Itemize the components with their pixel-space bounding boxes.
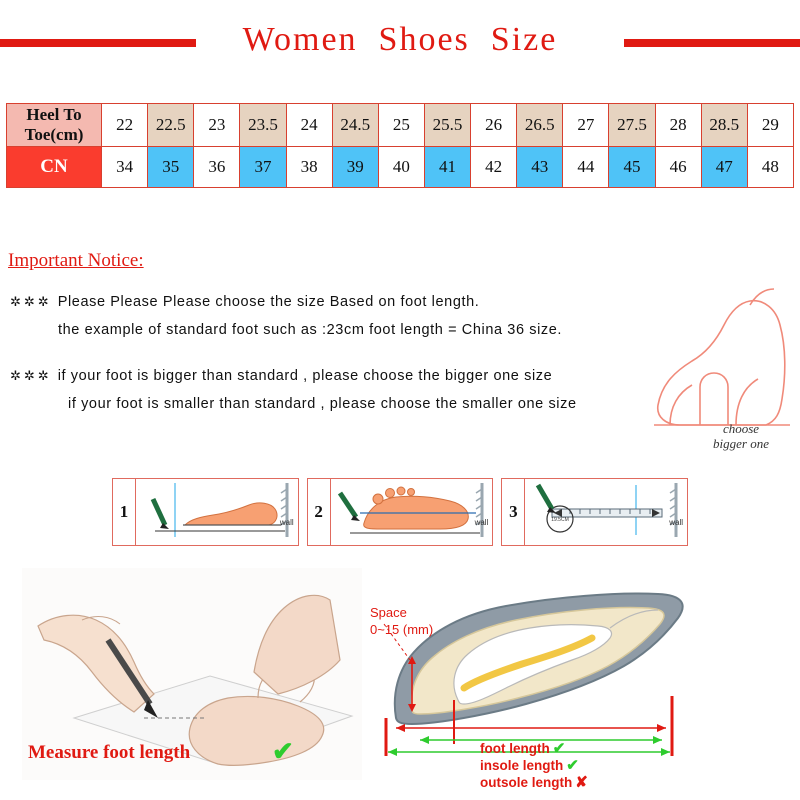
legend-check-icon: ✔: [553, 740, 566, 757]
measure-steps: 1 wall 2 wall 3: [112, 478, 688, 544]
table-cell: 48: [747, 147, 793, 188]
table-cell: 22: [102, 104, 148, 147]
step-1-wall-label: wall: [280, 518, 294, 527]
table-cell: 41: [424, 147, 470, 188]
table-cell: 24: [286, 104, 332, 147]
sketch-caption: choose bigger one: [686, 421, 796, 451]
table-cell: 25.5: [424, 104, 470, 147]
bullet-stars-icon: ✲✲✲: [10, 294, 52, 309]
table-cell: 27.5: [609, 104, 655, 147]
legend-label: outsole length: [480, 775, 572, 790]
table-cell: 46: [655, 147, 701, 188]
size-chart-table: Heel To Toe(cm) 22 22.5 23 23.5 24 24.5 …: [6, 103, 794, 188]
table-cell: 23.5: [240, 104, 286, 147]
table-cell: 24.5: [332, 104, 378, 147]
step-panel-2: 2 wall: [307, 478, 494, 546]
table-row-cn: CN 34 35 36 37 38 39 40 41 42 43 44 45 4…: [7, 147, 794, 188]
notice-paragraph-2: ✲✲✲if your foot is bigger than standard …: [10, 362, 710, 418]
page-title: Women Shoes Size: [233, 21, 568, 59]
legend-item-outsole-length: outsole length✘: [480, 774, 588, 791]
legend-label: insole length: [480, 758, 563, 773]
notice-block: ✲✲✲Please Please Please choose the size …: [10, 288, 710, 436]
step-number-1: 1: [113, 479, 136, 545]
step-3-ruler-value: 19.5CM: [552, 517, 570, 523]
table-row-heel-to-toe: Heel To Toe(cm) 22 22.5 23 23.5 24 24.5 …: [7, 104, 794, 147]
table-cell: 42: [471, 147, 517, 188]
step-3-illustration: 19.5CM: [524, 479, 687, 545]
page-title-band: Women Shoes Size: [0, 18, 800, 62]
table-cell: 43: [517, 147, 563, 188]
sketch-caption-line1: choose: [723, 421, 759, 436]
diagram-space-line1: Space: [370, 605, 407, 620]
diagram-space-line2: 0~15 (mm): [370, 622, 433, 637]
step-1-illustration: [135, 479, 298, 545]
table-cell: 45: [609, 147, 655, 188]
step-number-3: 3: [502, 479, 525, 545]
table-cell: 26.5: [517, 104, 563, 147]
row-header-heel-to-toe: Heel To Toe(cm): [7, 104, 102, 147]
table-cell: 27: [563, 104, 609, 147]
table-cell: 35: [148, 147, 194, 188]
photo-caption: Measure foot length: [28, 742, 190, 764]
step-3-wall-label: wall: [669, 518, 683, 527]
notice-p1-line2: the example of standard foot such as :23…: [10, 316, 710, 344]
table-cell: 22.5: [148, 104, 194, 147]
title-rule-right: [624, 39, 800, 47]
table-cell: 34: [102, 147, 148, 188]
step-panel-3: 3 19.5CM wall: [501, 478, 688, 546]
step-number-2: 2: [308, 479, 331, 545]
table-cell: 38: [286, 147, 332, 188]
table-cell: 25: [378, 104, 424, 147]
row-header-cn: CN: [7, 147, 102, 188]
legend-label: foot length: [480, 741, 550, 756]
table-cell: 37: [240, 147, 286, 188]
legend-cross-icon: ✘: [575, 774, 588, 791]
notice-title: Important Notice:: [8, 250, 144, 272]
legend-item-insole-length: insole length✔: [480, 757, 588, 774]
table-cell: 28: [655, 104, 701, 147]
table-cell: 40: [378, 147, 424, 188]
table-cell: 47: [701, 147, 747, 188]
table-cell: 39: [332, 147, 378, 188]
legend-check-icon: ✔: [566, 757, 579, 774]
step-2-wall-label: wall: [475, 518, 489, 527]
diagram-legend: foot length✔ insole length✔ outsole leng…: [480, 740, 588, 791]
diagram-space-label: Space 0~15 (mm): [370, 604, 433, 638]
table-cell: 23: [194, 104, 240, 147]
table-cell: 26: [471, 104, 517, 147]
notice-p2-line2: if your foot is smaller than standard , …: [10, 390, 710, 418]
photo-check-icon: ✔: [272, 736, 294, 767]
notice-p1-line1: Please Please Please choose the size Bas…: [58, 294, 480, 310]
table-cell: 29: [747, 104, 793, 147]
table-cell: 36: [194, 147, 240, 188]
table-cell: 28.5: [701, 104, 747, 147]
notice-paragraph-1: ✲✲✲Please Please Please choose the size …: [10, 288, 710, 344]
sketch-caption-line2: bigger one: [713, 436, 769, 451]
legend-item-foot-length: foot length✔: [480, 740, 588, 757]
step-panel-1: 1 wall: [112, 478, 299, 546]
bullet-stars-icon: ✲✲✲: [10, 368, 52, 383]
title-rule-left: [0, 39, 196, 47]
table-cell: 44: [563, 147, 609, 188]
step-2-illustration: [330, 479, 493, 545]
notice-p2-line1: if your foot is bigger than standard , p…: [58, 368, 553, 384]
